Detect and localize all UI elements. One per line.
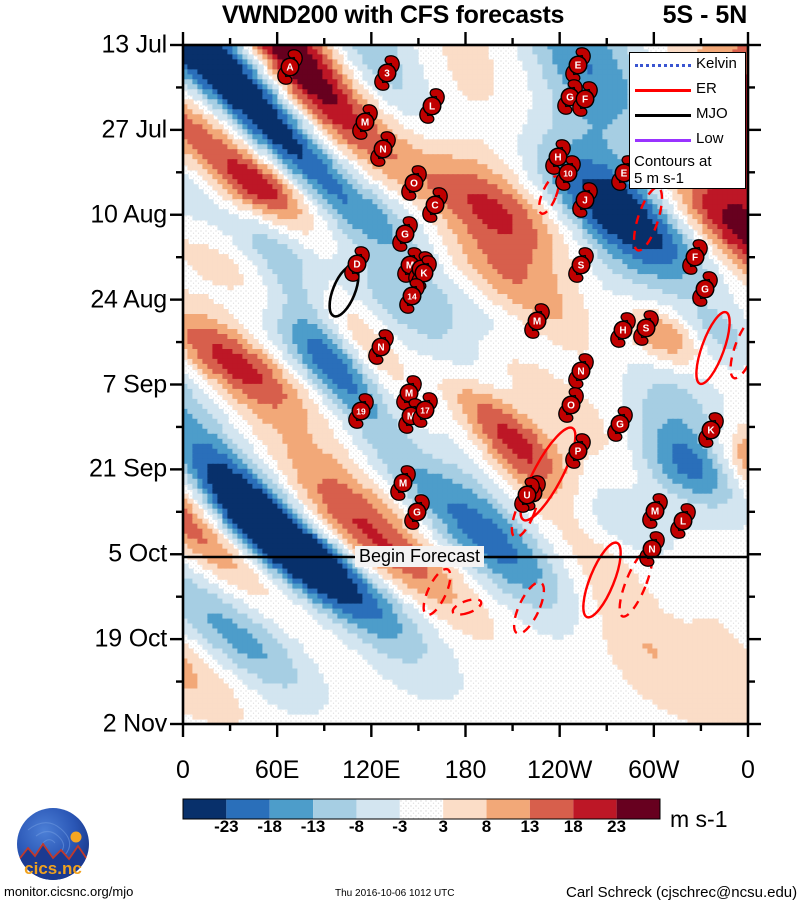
y-axis-tick-label: 21 Sep: [7, 455, 167, 484]
begin-forecast-label: Begin Forecast: [355, 546, 484, 567]
storm-label: M: [399, 478, 407, 489]
cicsnc-logo: cics.nc: [6, 806, 124, 884]
legend-row-er: ER: [630, 78, 745, 103]
colorbar-bin: [530, 799, 573, 819]
storm-label: M: [361, 117, 369, 128]
storm-label: N: [377, 342, 384, 353]
contour-legend: Kelvin ER MJO Low Contours at 5 m s-1: [629, 52, 746, 189]
storm-label: 17: [420, 405, 430, 415]
colorbar-bin: [183, 799, 226, 819]
storm-label: E: [575, 60, 582, 71]
y-axis-tick-label: 24 Aug: [7, 285, 167, 314]
storm-label: K: [707, 425, 715, 436]
y-axis-tick-label: 5 Oct: [7, 540, 167, 569]
colorbar-bin: [443, 799, 486, 819]
storm-label: S: [578, 260, 585, 271]
colorbar-bin: [573, 799, 616, 819]
storm-label: L: [680, 516, 686, 527]
contour-interval-line1: Contours at: [634, 153, 712, 170]
colorbar-tick-label: -18: [246, 817, 294, 837]
storm-label: L: [429, 101, 435, 112]
logo-sun: [71, 832, 82, 843]
y-axis-tick-label: 19 Oct: [7, 625, 167, 654]
x-axis-tick-label: 0: [688, 756, 808, 785]
storm-label: F: [582, 94, 588, 105]
colorbar-bin: [226, 799, 269, 819]
mjo-line-swatch: [635, 114, 691, 117]
colorbar-tick-label: -3: [376, 817, 424, 837]
storm-label: M: [651, 506, 659, 517]
footer-url[interactable]: monitor.cicsnc.org/mjo: [4, 884, 133, 899]
storm-label: E: [621, 168, 628, 179]
colorbar-tick-label: -23: [202, 817, 250, 837]
colorbar-tick-label: 18: [549, 817, 597, 837]
colorbar-tick-label: -8: [332, 817, 380, 837]
colorbar-bin: [400, 799, 443, 819]
colorbar-bin: [270, 799, 313, 819]
storm-label: C: [431, 200, 438, 211]
storm-label: N: [379, 144, 386, 155]
storm-label: G: [413, 507, 421, 518]
colorbar-tick-label: 8: [463, 817, 511, 837]
storm-label: G: [566, 92, 574, 103]
storm-label: 3: [384, 68, 390, 79]
colorbar-tick-label: 3: [419, 817, 467, 837]
low-line-swatch: [635, 139, 691, 142]
storm-label: U: [523, 490, 530, 501]
footer-timestamp: Thu 2016-10-06 1012 UTC: [335, 888, 455, 899]
storm-label: N: [648, 544, 655, 555]
storm-label: H: [554, 152, 561, 163]
storm-label: J: [582, 195, 588, 206]
hovmoller-figure: VWND200 with CFS forecasts 5S - 5N A3EML…: [0, 0, 809, 907]
storm-label: O: [410, 178, 418, 189]
storm-label: M: [405, 388, 413, 399]
er-line-swatch: [635, 89, 691, 92]
colorbar-tick-label: 23: [593, 817, 641, 837]
kelvin-line-swatch: [635, 64, 691, 67]
y-axis-tick-label: 13 Jul: [7, 31, 167, 60]
storm-label: O: [567, 400, 575, 411]
storm-label: S: [643, 323, 650, 334]
legend-label-kelvin: Kelvin: [696, 55, 737, 72]
colorbar-bin: [356, 799, 399, 819]
y-axis-tick-label: 2 Nov: [7, 710, 167, 739]
storm-label: G: [616, 419, 624, 430]
storm-label: P: [575, 446, 582, 457]
storm-label: N: [577, 366, 584, 377]
colorbar-bin: [313, 799, 356, 819]
storm-label: 19: [356, 406, 366, 416]
colorbar-tick-label: -13: [289, 817, 337, 837]
storm-label: D: [353, 259, 360, 270]
legend-row-low: Low: [630, 128, 745, 153]
storm-label: H: [619, 325, 626, 336]
storm-label: 14: [407, 291, 417, 301]
logo-wordmark: cics.nc: [24, 859, 82, 878]
colorbar-bin: [487, 799, 530, 819]
storm-label: M: [533, 316, 541, 327]
storm-label: 10: [563, 168, 573, 178]
contour-interval-line2: 5 m s-1: [634, 170, 712, 187]
y-axis-tick-label: 10 Aug: [7, 200, 167, 229]
storm-label: A: [286, 62, 293, 73]
y-axis-tick-label: 27 Jul: [7, 115, 167, 144]
legend-label-mjo: MJO: [696, 105, 728, 122]
colorbar-tick-label: 13: [506, 817, 554, 837]
colorbar-bin: [617, 799, 660, 819]
storm-label: F: [692, 252, 698, 263]
y-axis-tick-label: 7 Sep: [7, 370, 167, 399]
footer-author: Carl Schreck (cjschrec@ncsu.edu): [566, 884, 797, 901]
legend-row-mjo: MJO: [630, 103, 745, 128]
legend-label-er: ER: [696, 80, 717, 97]
storm-label: G: [701, 284, 709, 295]
contour-interval-note: Contours at 5 m s-1: [634, 153, 712, 187]
legend-row-kelvin: Kelvin: [630, 53, 745, 78]
storm-label: K: [420, 268, 428, 279]
colorbar-unit-label: m s-1: [670, 806, 728, 833]
storm-label: G: [401, 229, 409, 240]
legend-label-low: Low: [696, 130, 724, 147]
